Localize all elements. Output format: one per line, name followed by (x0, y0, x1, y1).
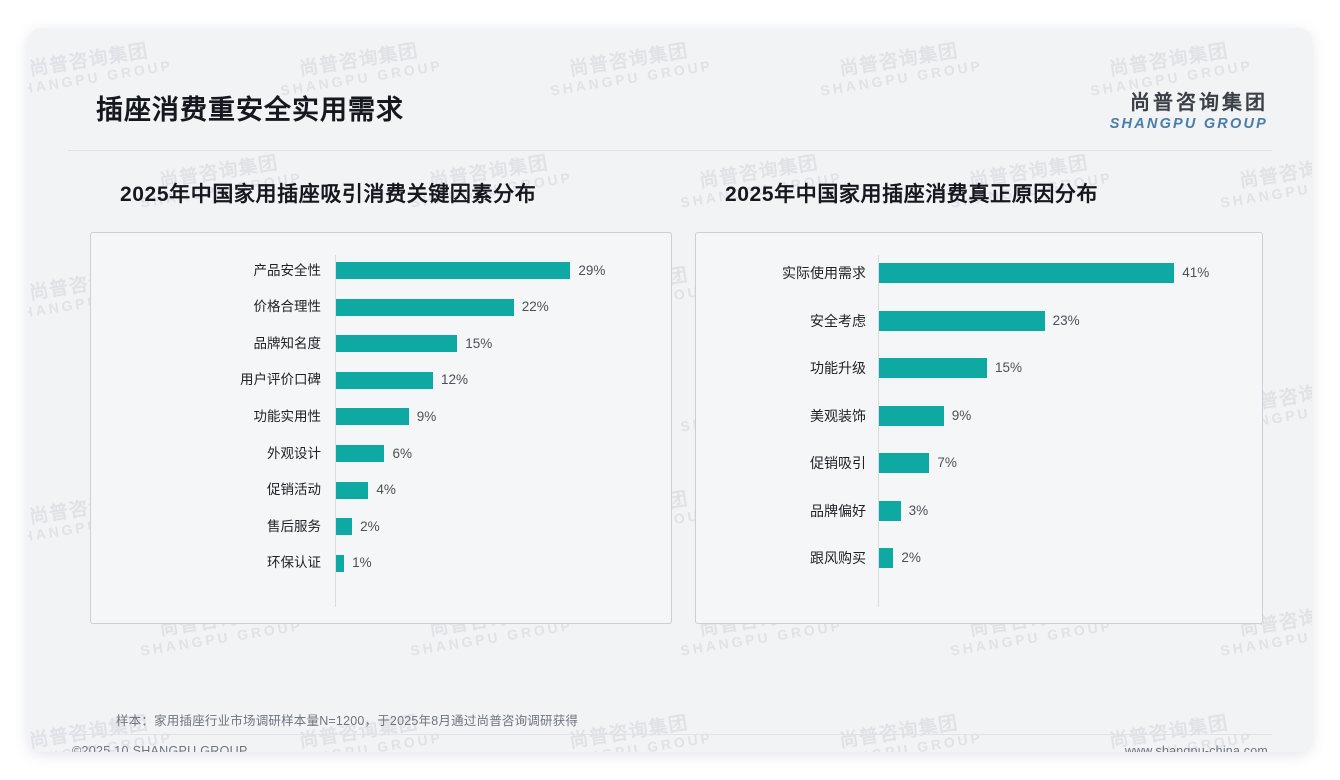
chart-title-right: 2025年中国家用插座消费真正原因分布 (695, 178, 1273, 208)
bar-chart-right: 实际使用需求41%安全考虑23%功能升级15%美观装饰9%促销吸引7%品牌偏好3… (696, 233, 1262, 623)
bar-value-label: 9% (417, 408, 437, 426)
bar-category-label: 品牌知名度 (91, 334, 337, 354)
bar-segment (336, 262, 570, 279)
bar-value-label: 9% (952, 407, 972, 425)
bar-value-label: 15% (995, 359, 1022, 377)
footer-divider (68, 734, 1272, 735)
bar-segment (336, 518, 352, 535)
bar-segment (336, 335, 457, 352)
bar-category-label: 外观设计 (91, 444, 337, 464)
bar-value-label: 23% (1053, 312, 1080, 330)
bar-category-label: 促销吸引 (696, 453, 882, 473)
logo-cn-text: 尚普咨询集团 (1110, 86, 1268, 115)
bar-segment (336, 445, 384, 462)
bar-segment (336, 482, 368, 499)
bar-segment (879, 548, 893, 568)
bar-segment (879, 406, 944, 426)
bar-category-label: 功能升级 (696, 358, 882, 378)
bar-category-label: 功能实用性 (91, 407, 337, 427)
bar-value-label: 2% (901, 549, 921, 567)
brand-logo: 尚普咨询集团 SHANGPU GROUP (1110, 86, 1268, 132)
chart-title-left: 2025年中国家用插座吸引消费关键因素分布 (90, 178, 700, 208)
bar-category-label: 安全考虑 (696, 311, 882, 331)
bar-segment (879, 358, 987, 378)
bar-segment (879, 263, 1174, 283)
bar-value-label: 7% (937, 454, 957, 472)
bar-category-label: 价格合理性 (91, 297, 337, 317)
bar-category-label: 美观装饰 (696, 406, 882, 426)
bar-category-label: 品牌偏好 (696, 501, 882, 521)
chart-block-left: 2025年中国家用插座吸引消费关键因素分布 产品安全性29%价格合理性22%品牌… (90, 178, 700, 624)
page-title: 插座消费重安全实用需求 (96, 88, 404, 127)
bar-value-label: 41% (1182, 264, 1209, 282)
bar-category-label: 促销活动 (91, 480, 337, 500)
bar-category-label: 环保认证 (91, 553, 337, 573)
bar-segment (336, 372, 433, 389)
slide: 尚普咨询集团SHANGPU GROUP尚普咨询集团SHANGPU GROUP尚普… (28, 28, 1312, 752)
slide-footer: ©2025.10 SHANGPU GROUP www.shangpu-china… (28, 744, 1312, 752)
bar-category-label: 跟风购买 (696, 548, 882, 568)
bar-category-label: 实际使用需求 (696, 263, 882, 283)
bar-value-label: 1% (352, 554, 372, 572)
chart-panel-right: 实际使用需求41%安全考虑23%功能升级15%美观装饰9%促销吸引7%品牌偏好3… (695, 232, 1263, 624)
website-link[interactable]: www.shangpu-china.com (1125, 744, 1268, 752)
bar-category-label: 产品安全性 (91, 261, 337, 281)
bar-chart-left: 产品安全性29%价格合理性22%品牌知名度15%用户评价口碑12%功能实用性9%… (91, 233, 671, 623)
bar-value-label: 4% (376, 481, 396, 499)
bar-segment (879, 311, 1045, 331)
bar-category-label: 用户评价口碑 (91, 370, 337, 390)
bar-segment (879, 501, 901, 521)
bar-value-label: 3% (909, 502, 929, 520)
bar-value-label: 15% (465, 335, 492, 353)
slide-header: 插座消费重安全实用需求 尚普咨询集团 SHANGPU GROUP (28, 28, 1312, 124)
sample-footnote: 样本：家用插座行业市场调研样本量N=1200，于2025年8月通过尚普咨询调研获… (116, 710, 578, 729)
header-divider (68, 150, 1272, 151)
bar-value-label: 6% (392, 445, 412, 463)
bar-value-label: 22% (522, 298, 549, 316)
logo-en-text: SHANGPU GROUP (1110, 116, 1268, 132)
chart-panel-left: 产品安全性29%价格合理性22%品牌知名度15%用户评价口碑12%功能实用性9%… (90, 232, 672, 624)
bar-segment (336, 299, 514, 316)
bar-segment (879, 453, 929, 473)
chart-block-right: 2025年中国家用插座消费真正原因分布 实际使用需求41%安全考虑23%功能升级… (695, 178, 1273, 624)
copyright-text: ©2025.10 SHANGPU GROUP (72, 744, 248, 752)
bar-value-label: 12% (441, 371, 468, 389)
bar-segment (336, 555, 344, 572)
bar-value-label: 2% (360, 518, 380, 536)
bar-category-label: 售后服务 (91, 517, 337, 537)
bar-segment (336, 408, 409, 425)
bar-value-label: 29% (578, 262, 605, 280)
